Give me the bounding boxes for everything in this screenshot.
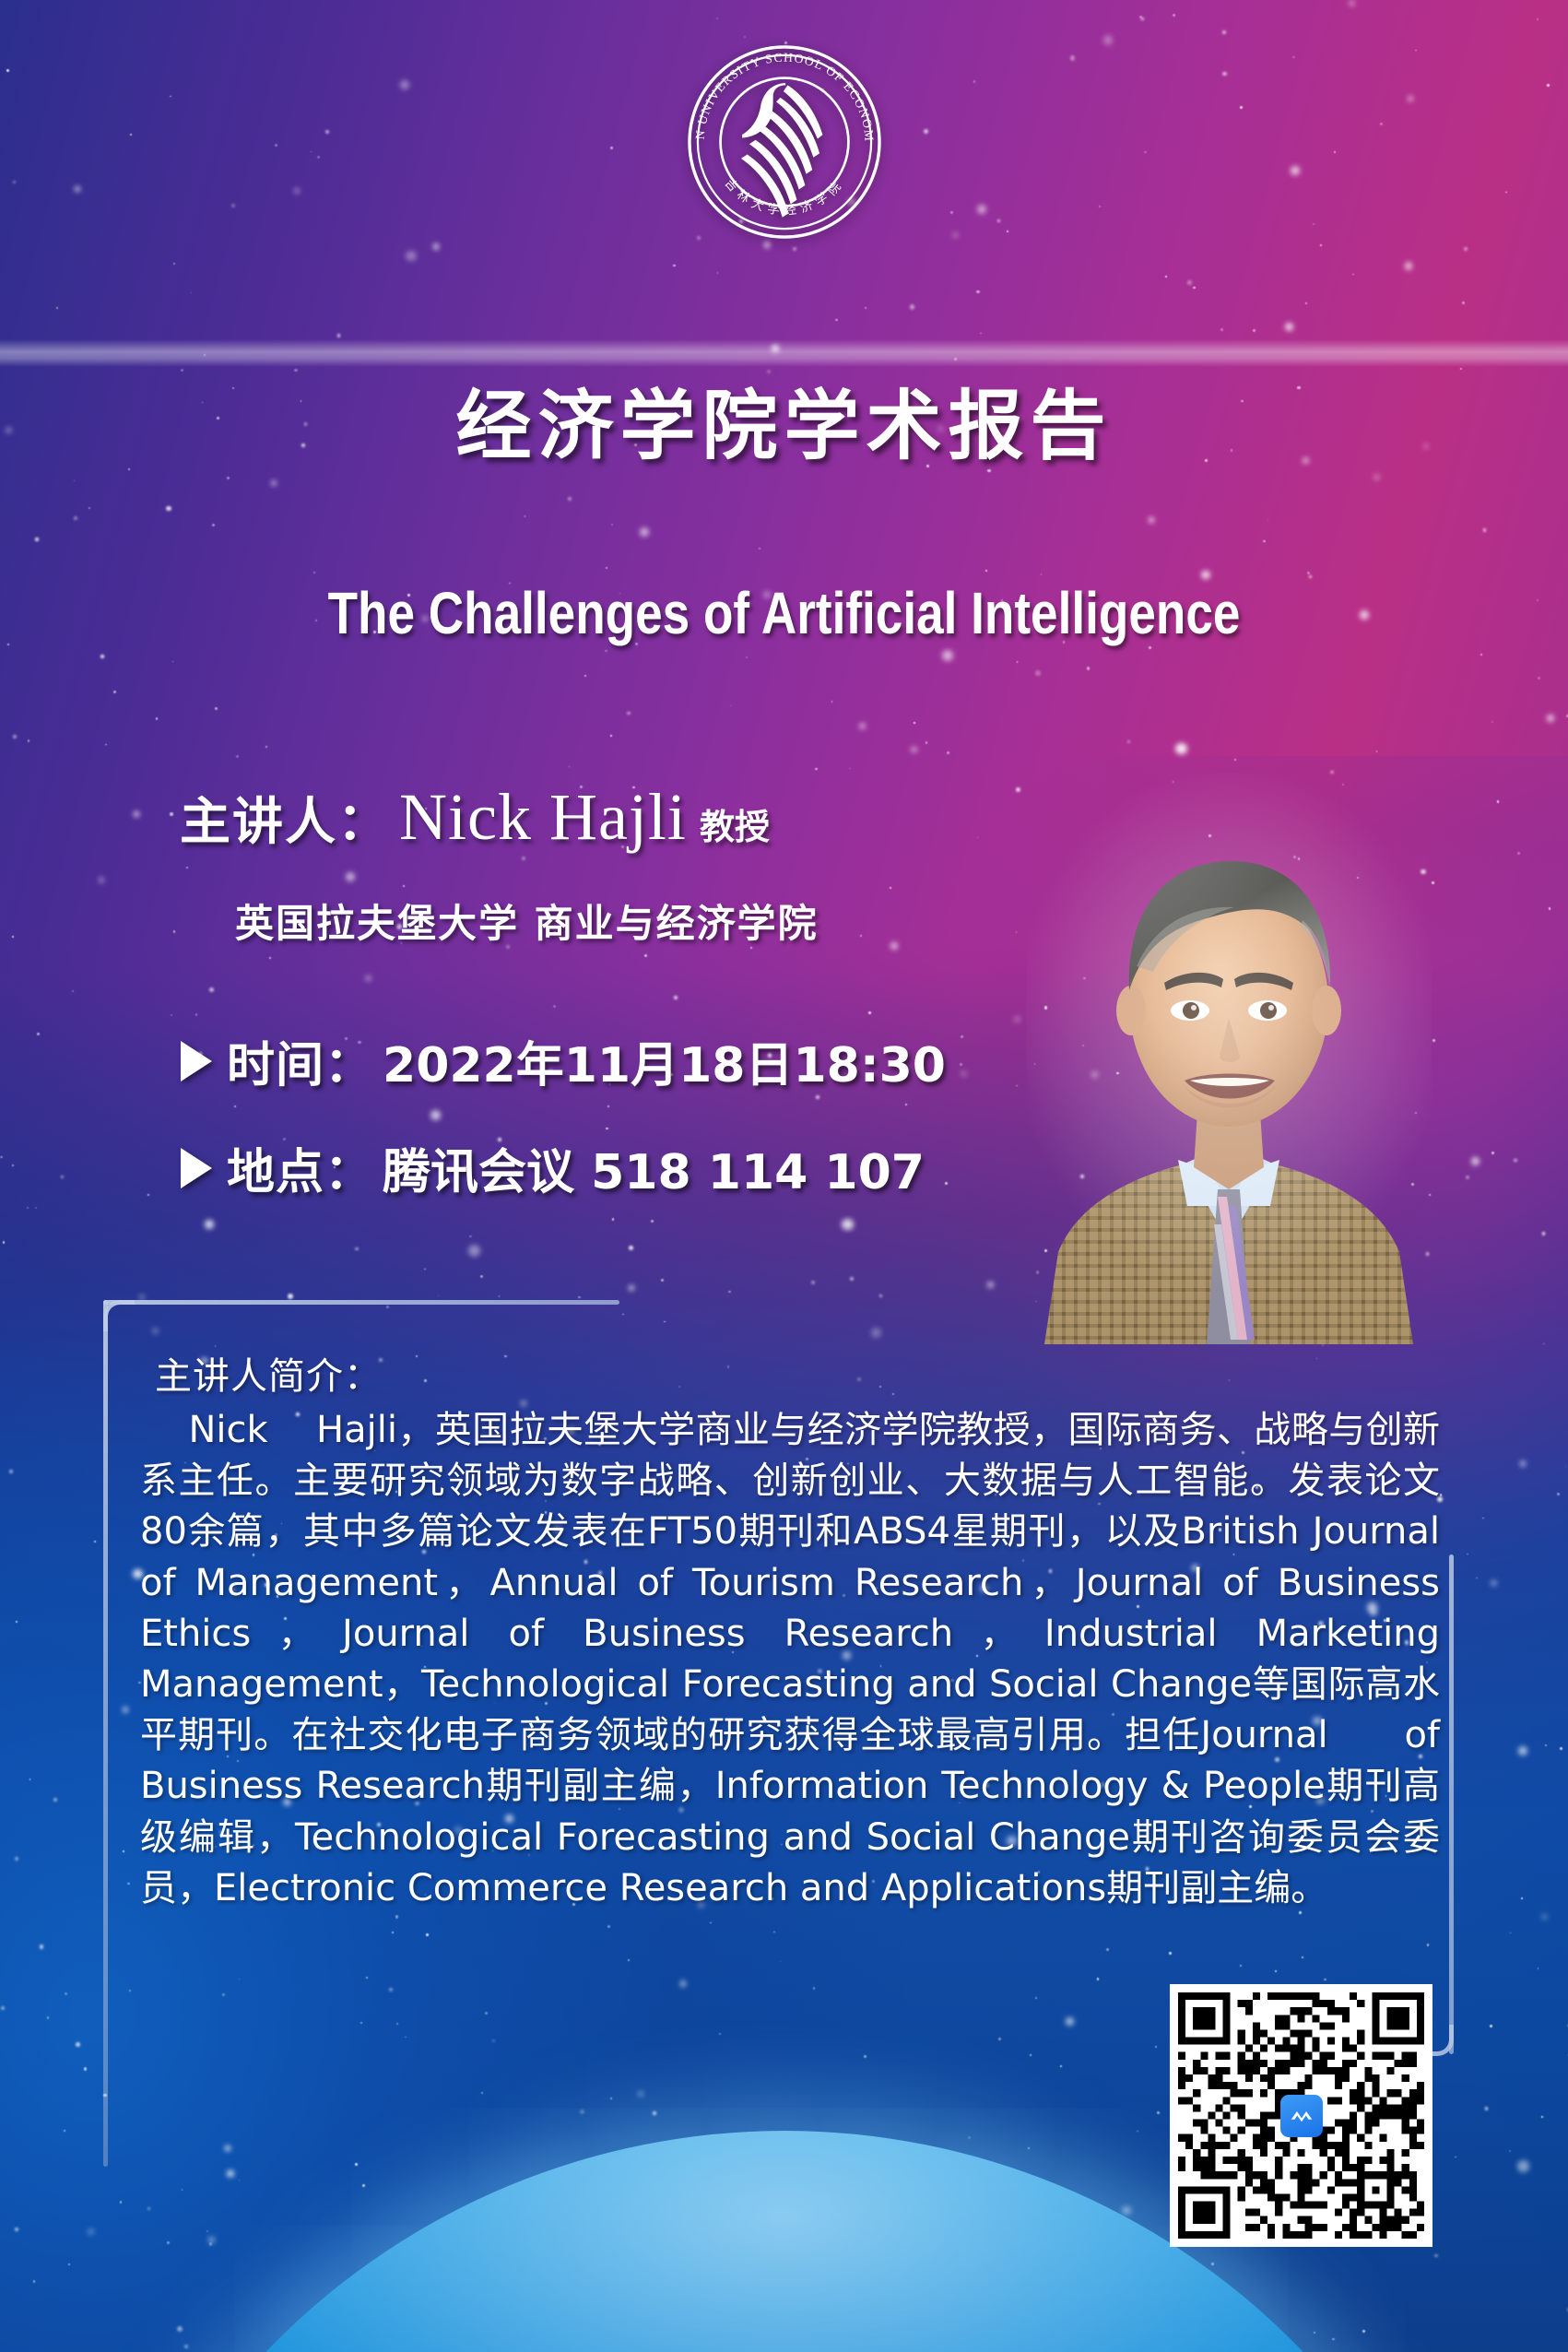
play-triangle-icon [181, 1041, 212, 1081]
speaker-line: 主讲人： Nick Hajli 教授 [180, 779, 770, 856]
location-label: 地点： [227, 1133, 373, 1202]
location-value: 腾讯会议 518 114 107 [383, 1133, 925, 1202]
top-light-band [0, 339, 1568, 367]
detail-row-location: 地点： 腾讯会议 518 114 107 [181, 1133, 925, 1202]
tencent-meeting-qr-code[interactable] [1170, 1984, 1432, 2247]
time-value: 2022年11月18日18:30 [383, 1026, 946, 1095]
bio-text: Nick Hajli，英国拉夫堡大学商业与经济学院教授，国际商务、战略与创新系主… [140, 1405, 1440, 1914]
speaker-portrait [1026, 773, 1432, 1344]
play-triangle-icon [181, 1148, 212, 1188]
portrait-glow [1026, 773, 1432, 1344]
poster-canvas: JILIN UNIVERSITY SCHOOL OF ECONOMICS 吉林大… [0, 0, 1568, 2352]
speaker-affiliation: 英国拉夫堡大学 商业与经济学院 [235, 892, 819, 949]
speaker-name: Nick Hajli [399, 779, 687, 856]
speaker-label: 主讲人： [180, 780, 390, 854]
poster-title-english: The Challenges of Artificial Intelligenc… [134, 579, 1435, 647]
poster-title-chinese: 经济学院学术报告 [0, 364, 1568, 474]
speaker-rank: 教授 [700, 798, 770, 849]
bio-frame-corner-top-left [103, 1300, 135, 1331]
time-label: 时间： [227, 1026, 373, 1095]
bio-heading: 主讲人简介： [155, 1346, 382, 1400]
bio-frame-left-border [103, 1300, 108, 2167]
tencent-meeting-logo [1280, 2095, 1323, 2137]
detail-row-time: 时间： 2022年11月18日18:30 [181, 1026, 946, 1095]
jilin-university-seal-icon: JILIN UNIVERSITY SCHOOL OF ECONOMICS 吉林大… [681, 39, 888, 245]
bio-frame-top-border [103, 1300, 619, 1305]
